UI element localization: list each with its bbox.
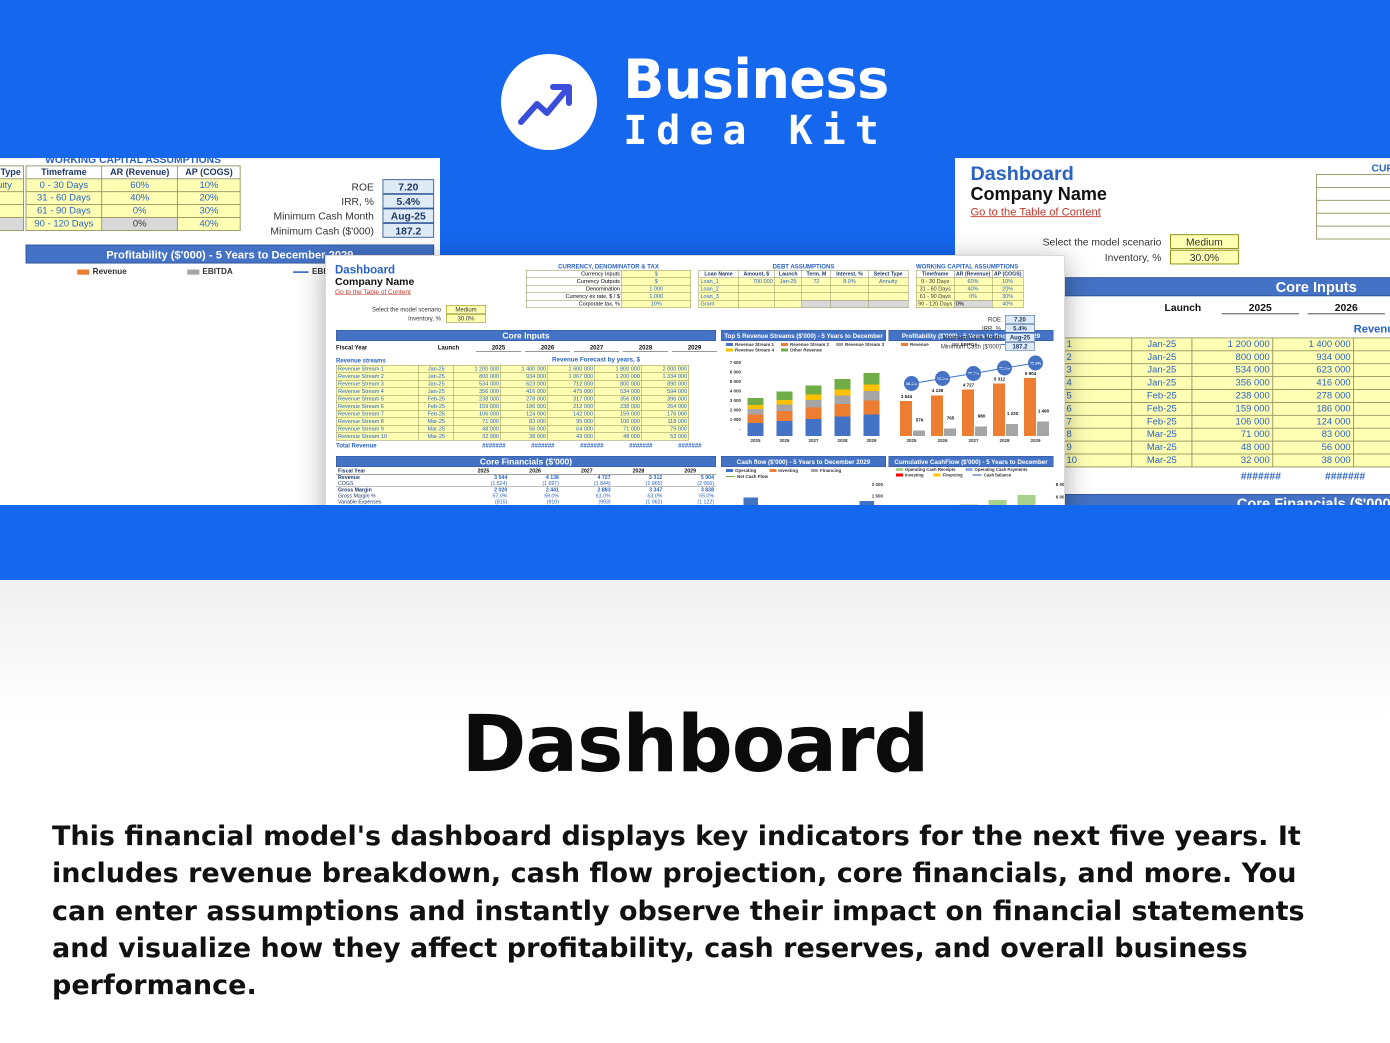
- profitability-plot: 3 54457616.3%4 13876518.5%4 72798020.7%5…: [896, 356, 1051, 436]
- label-ebitda-2026: 765: [943, 415, 958, 420]
- legend-revenue: Revenue: [77, 267, 127, 276]
- denomination-label: Denomination: [526, 285, 621, 293]
- prof-xlab-2027: 2027: [958, 438, 989, 443]
- table-row: 61 - 90 Days0%30%: [916, 293, 1023, 301]
- ci-year-2029: 2029: [672, 344, 717, 352]
- prof-xlab-2025: 2025: [896, 438, 927, 443]
- brand-logo: Business Idea Kit: [0, 46, 1390, 158]
- table-row: Grant: [0, 218, 24, 231]
- bar-revenue-stream-1-2028: [835, 417, 851, 436]
- table-row: 31 - 60 Days40%20%: [916, 285, 1023, 293]
- rs-xlab-2027: 2027: [799, 438, 828, 443]
- scenario-label-right: Select the model scenario: [981, 236, 1162, 248]
- table-row: Loan_1700 000Jan-25728.0%Annuity: [0, 179, 24, 192]
- core-financials-section-bar: Core Financials ($'000): [336, 456, 716, 467]
- table-row: Denomination1 000: [1317, 200, 1390, 213]
- min-cash-month-value: Aug-25: [383, 208, 435, 223]
- bubble-ebitda-pct-2029: 25.2%: [1028, 356, 1043, 371]
- bar-revenue-2026: [931, 395, 943, 436]
- currency-outputs-label: Currency Outputs: [526, 278, 621, 286]
- label-revenue-2028: 5 312: [992, 377, 1007, 382]
- table-row: 0 - 30 Days60%10%: [26, 179, 240, 192]
- legend-cf-net: Net Cash Flow: [726, 474, 768, 479]
- growth-arrow-icon: [501, 54, 597, 150]
- table-row: 31 - 60 Days40%20%: [26, 192, 240, 205]
- currency-block-title: CURRENCY, DENOMINATOR & TAX: [526, 263, 691, 270]
- table-row: Revenue Stream 3Jan-25534 000623 000712 …: [336, 380, 689, 388]
- revenue-forecast-table: Revenue Stream 1Jan-251 200 0001 400 000…: [336, 365, 689, 441]
- ci-year-2027: 2027: [574, 344, 619, 352]
- legend-ebitda: EBITDA: [187, 267, 233, 276]
- table-row: Loan_1700 000Jan-25728.0%Annuity: [699, 278, 909, 286]
- legend-ccf-payments: Operating Cash Payments: [966, 467, 1028, 472]
- ci-year-2028: 2028: [623, 344, 668, 352]
- roe-label: ROE: [916, 316, 1001, 323]
- table-header-row: Timeframe AR (Revenue) AP (COGS): [26, 166, 240, 179]
- table-row: Loan_3: [699, 293, 909, 301]
- table-row: Revenue Stream 6Feb-25159 000186 000212 …: [336, 403, 689, 411]
- table-row: 61 - 90 Days0%30%: [26, 205, 240, 218]
- bar-revenue-stream-1-2025: [748, 423, 764, 436]
- min-cash-value: 187.2: [383, 223, 435, 238]
- scenario-label: Select the model scenario: [336, 306, 441, 313]
- col-loan-name: Loan Name: [699, 270, 738, 278]
- bar-revenue-stream-3-2029: [864, 391, 880, 401]
- legend-cf-investing: Investing: [769, 468, 798, 473]
- label-revenue-2026: 4 138: [930, 388, 945, 393]
- roe-label: ROE: [245, 181, 374, 193]
- irr-value: 5.4%: [383, 194, 435, 209]
- debt-table: Loan NameAmount, $LaunchTerm, MInterest,…: [699, 270, 909, 308]
- bar-revenue-stream-4-2027: [806, 395, 822, 400]
- bar-revenue-2029: [1024, 378, 1036, 436]
- rs-ytick-7: -: [719, 427, 741, 432]
- table-row: Currency ex rate, $ / $1.000: [526, 293, 691, 301]
- prof-xlab-2026: 2026: [927, 438, 958, 443]
- table-row: 90 - 120 Days0%40%: [26, 218, 240, 231]
- currency-inputs-label: Currency Inputs: [526, 270, 621, 278]
- bar-revenue-stream-3-2028: [835, 395, 851, 404]
- launch-col-label: Launch: [431, 344, 466, 351]
- table-row: Revenue Stream 5Feb-25238 000278 000317 …: [336, 395, 689, 403]
- label-ebitda-2027: 980: [974, 413, 989, 418]
- bar-other-revenue-2025: [748, 398, 764, 405]
- year-2025-right: 2025: [1222, 301, 1299, 314]
- bar-revenue-stream-3-2025: [748, 409, 764, 415]
- legend-ccf-balance: Cash balance: [973, 473, 1011, 478]
- ccf-ytick-0: 8 000: [1045, 482, 1065, 487]
- bar-ebitda-2028: [1006, 424, 1018, 436]
- irr--label: IRR, %: [916, 325, 1001, 332]
- cashflow-section-bar: Cash flow ($'000) - 5 Years to December …: [721, 456, 886, 467]
- hero-bottom-strip: [0, 505, 1390, 580]
- total-revenue-value: #######: [1284, 470, 1365, 482]
- bar-revenue-2028: [993, 384, 1005, 436]
- dashboard-title-right: Dashboard: [970, 162, 1073, 185]
- currency-table: Currency Inputs$ Currency Outputs$ Denom…: [526, 270, 691, 308]
- ccf-ytick-1: 6 000: [1045, 495, 1065, 500]
- revenue-streams-plot: [741, 361, 886, 436]
- ci-year-2025: 2025: [476, 344, 521, 352]
- total-revenue-value: #######: [1200, 470, 1281, 482]
- roe-value: 7.20: [1005, 315, 1035, 324]
- bar-revenue-stream-2-2027: [806, 407, 822, 418]
- col-ap: AP (COGS): [178, 166, 240, 179]
- launch-label-right: Launch: [1153, 301, 1213, 313]
- bar-revenue-stream-3-2026: [777, 404, 793, 411]
- core-inputs-section-bar: Core Inputs: [336, 330, 716, 341]
- table-row: Currency Outputs$: [526, 278, 691, 286]
- bar-other-revenue-2028: [835, 379, 851, 389]
- col-type: Select Type: [0, 166, 24, 179]
- tax-label: Corporate tax, %: [526, 300, 621, 308]
- col-timeframe: Timeframe: [26, 166, 102, 179]
- rs-ytick-2: 5 000: [719, 379, 741, 384]
- table-row: Revenue Stream 9Mar-2548 00056 00064 000…: [336, 425, 689, 433]
- bar-revenue-2027: [962, 389, 974, 436]
- label-revenue-2029: 5 904: [1023, 371, 1038, 376]
- brand-name-secondary: Idea Kit: [623, 111, 889, 151]
- legend-ccf-financing: Financing: [934, 473, 963, 478]
- bar-other-revenue-2026: [777, 392, 793, 400]
- bar-ebitda-2029: [1037, 421, 1049, 436]
- table-of-content-link[interactable]: Go to the Table of Content: [335, 288, 411, 296]
- rs-ytick-0: 7 000: [719, 360, 741, 365]
- total-revenue-value: #######: [459, 442, 506, 449]
- table-header-row: Loan Name Amount, $ Launch Term, M Inter…: [0, 166, 24, 179]
- rs-ytick-3: 4 000: [719, 389, 741, 394]
- total-revenue-value: #######: [557, 442, 604, 449]
- bar-revenue-stream-2-2028: [835, 404, 851, 417]
- dashboard-title: Dashboard: [335, 263, 395, 277]
- bar-revenue-stream-4-2028: [835, 390, 851, 396]
- total-revenue-value: #######: [606, 442, 653, 449]
- bar-revenue-stream-1-2027: [806, 419, 822, 436]
- tax-value[interactable]: 10%: [622, 300, 691, 308]
- total-revenue-value: #######: [1369, 470, 1390, 482]
- currency-title-right: CURRENCY, DENOMINATOR & TAX: [1316, 162, 1390, 174]
- minimum-cash-month-label: Minimum Cash Month: [916, 334, 1001, 341]
- debt-assumptions-table: Loan Name Amount, $ Launch Term, M Inter…: [0, 165, 24, 230]
- total-revenue-value: #######: [655, 442, 702, 449]
- hero-banner: Business Idea Kit DEBT ASSUMPTIONS Loan …: [0, 0, 1390, 580]
- working-capital-grid: TimeframeAR (Revenue)AP (COGS)0 - 30 Day…: [916, 270, 1024, 308]
- table-header-row: TimeframeAR (Revenue)AP (COGS): [916, 270, 1023, 278]
- table-row: Loan_3: [0, 205, 24, 218]
- roe-value: 7.20: [383, 179, 435, 194]
- min-cash-month-label: Minimum Cash Month: [228, 210, 374, 222]
- minimum-cash-month-value: Aug-25: [1005, 333, 1035, 342]
- company-name-right: Company Name: [970, 184, 1106, 205]
- bar-other-revenue-2029: [864, 373, 880, 385]
- revenue-streams-label: Revenue streams: [336, 357, 416, 364]
- scenario-value-right[interactable]: Medium: [1170, 234, 1239, 249]
- bar-revenue-stream-1-2029: [864, 415, 880, 436]
- table-row: Revenue Stream 8Mar-2571 00083 00095 000…: [336, 418, 689, 426]
- bar-revenue-stream-3-2027: [806, 400, 822, 408]
- table-row: Loan_2: [0, 192, 24, 205]
- bar-revenue-2025: [900, 401, 912, 436]
- minimum-cash--value: 187.2: [1005, 342, 1035, 351]
- bubble-ebitda-pct-2025: 16.3%: [904, 376, 919, 391]
- col-select-type: Select Type: [868, 270, 908, 278]
- bubble-ebitda-pct-2026: 18.5%: [935, 371, 950, 386]
- col-ar: AR (Revenue): [102, 166, 178, 179]
- rs-ytick-4: 3 000: [719, 398, 741, 403]
- currency-inputs-value[interactable]: $: [622, 270, 691, 278]
- legend-other-rev: Other Revenue: [781, 348, 822, 353]
- irr-label: IRR, %: [245, 196, 374, 208]
- rs-xlab-2026: 2026: [770, 438, 799, 443]
- working-capital-title: WORKING CAPITAL ASSUMPTIONS: [26, 158, 241, 165]
- col-interest-: Interest, %: [831, 270, 868, 278]
- table-row: Revenue Stream 4Jan-25356 000416 000475 …: [336, 388, 689, 396]
- legend-rs4: Revenue Stream 4: [726, 348, 774, 353]
- revenue-forecast-title: Revenue Forecast by years, $: [476, 356, 716, 363]
- exrate-label: Currency ex rate, $ / $: [526, 293, 621, 301]
- table-row: Currency Inputs$: [526, 270, 691, 278]
- denomination-value[interactable]: 1 000: [622, 285, 691, 293]
- bar-revenue-stream-2-2029: [864, 400, 880, 414]
- toc-link-right[interactable]: Go to the Table of Content: [970, 205, 1100, 218]
- brand-name-primary: Business: [623, 53, 889, 107]
- bar-revenue-stream-4-2029: [864, 384, 880, 390]
- total-revenue-label: Total Revenue: [336, 442, 411, 449]
- legend-ccf-receipts: Operating Cash Receipts: [896, 467, 956, 472]
- debt-block-title: DEBT ASSUMPTIONS: [699, 263, 909, 270]
- cumulative-cashflow-section-bar: Cumulative CashFlow ($'000) - 5 Years to…: [889, 456, 1054, 467]
- min-cash-label: Minimum Cash ($'000): [228, 225, 374, 237]
- minimum-cash--label: Minimum Cash ($'000): [916, 343, 1001, 350]
- bar-ebitda-2026: [944, 428, 956, 436]
- ci-year-2026: 2026: [525, 344, 570, 352]
- year-2026-right: 2026: [1308, 301, 1385, 314]
- wc-block-title: WORKING CAPITAL ASSUMPTIONS: [916, 263, 1021, 270]
- revenue-streams-bars: [0, 288, 8, 430]
- table-row: 90 - 120 Days0%40%: [916, 300, 1023, 308]
- bubble-ebitda-pct-2027: 20.7%: [966, 366, 981, 381]
- label-ebitda-2025: 576: [912, 417, 927, 422]
- fiscal-year-label: Fiscal Year: [336, 344, 406, 351]
- legend-rs3: Revenue Stream 3: [836, 342, 884, 347]
- legend-rs1: Revenue Stream 1: [726, 342, 774, 347]
- total-revenue-value: #######: [508, 442, 555, 449]
- label-ebitda-2028: 1 220: [1005, 411, 1020, 416]
- irr--value: 5.4%: [1005, 324, 1035, 333]
- bar-revenue-stream-4-2025: [748, 405, 764, 409]
- exrate-value[interactable]: 1.000: [622, 293, 691, 301]
- legend-rs2: Revenue Stream 2: [781, 342, 829, 347]
- legend-cf-financing: Financing: [811, 468, 841, 473]
- currency-outputs-value[interactable]: $: [622, 278, 691, 286]
- revenue-streams-section-bar: Top 5 Revenue Streams ($'000) - 5 Years …: [721, 330, 886, 341]
- table-row: Loan_2: [699, 285, 909, 293]
- page-description: This financial model's dashboard display…: [52, 818, 1342, 1004]
- bar-revenue-stream-1-2026: [777, 421, 793, 436]
- bar-ebitda-2027: [975, 426, 987, 436]
- currency-table-right: Currency Inputs$ Currency Outputs$ Denom…: [1316, 174, 1390, 239]
- table-row: Revenue Stream 1Jan-251 200 0001 400 000…: [336, 365, 689, 373]
- legend-ccf-investing: Investing: [896, 473, 924, 478]
- rs-xlab-2029: 2029: [857, 438, 886, 443]
- rs-ytick-1: 6 000: [719, 370, 741, 375]
- label-revenue-2027: 4 727: [961, 382, 976, 387]
- working-capital-table: Timeframe AR (Revenue) AP (COGS) 0 - 30 …: [26, 165, 241, 230]
- table-row: Grant: [699, 300, 909, 308]
- legend-cf-operating: Operating: [726, 468, 756, 473]
- prof-xlab-2029: 2029: [1020, 438, 1051, 443]
- table-header-row: Loan NameAmount, $LaunchTerm, MInterest,…: [699, 270, 909, 278]
- scenario-select[interactable]: Medium: [446, 305, 486, 314]
- label-revenue-2025: 3 544: [899, 394, 914, 399]
- table-row: Revenue Stream 10Mar-2532 00038 00043 00…: [336, 433, 689, 441]
- table-row: Corporate tax, %10%: [1317, 226, 1390, 239]
- table-row: Currency ex rate, $ / $1.000: [1317, 213, 1390, 226]
- prof-xlab-2028: 2028: [989, 438, 1020, 443]
- forecast-title-right: Revenue Forecast by years, $: [1222, 322, 1390, 335]
- table-row: Revenue Stream 7Feb-25106 000124 000142 …: [336, 410, 689, 418]
- rs-xlab-2028: 2028: [828, 438, 857, 443]
- col-amount-: Amount, $: [738, 270, 774, 278]
- page-title: Dashboard: [0, 700, 1390, 790]
- inventory-label: Inventory, %: [336, 315, 441, 322]
- col-term-m: Term, M: [802, 270, 831, 278]
- col-launch: Launch: [774, 270, 802, 278]
- table-row: 0 - 30 Days60%10%: [916, 278, 1023, 286]
- rs-ytick-6: 1 000: [719, 417, 741, 422]
- table-row: Currency Outputs$: [1317, 187, 1390, 200]
- company-name: Company Name: [335, 276, 414, 288]
- inventory-value-right[interactable]: 30.0%: [1170, 250, 1239, 265]
- table-row: Corporate tax, %10%: [526, 300, 691, 308]
- rs-xlab-2025: 2025: [741, 438, 770, 443]
- bar-ebitda-2025: [913, 430, 925, 436]
- bar-revenue-stream-2-2025: [748, 415, 764, 424]
- bar-revenue-stream-4-2026: [777, 400, 793, 404]
- table-row: Currency Inputs$: [1317, 175, 1390, 188]
- rs-ytick-5: 2 000: [719, 408, 741, 413]
- bubble-ebitda-pct-2028: 23.0%: [997, 361, 1012, 376]
- label-ebitda-2029: 1 490: [1036, 408, 1051, 413]
- bar-revenue-stream-2-2026: [777, 411, 793, 421]
- bar-other-revenue-2027: [806, 385, 822, 394]
- table-row: Denomination1 000: [526, 285, 691, 293]
- inventory-input[interactable]: 30.0%: [446, 314, 486, 323]
- table-row: Revenue Stream 2Jan-25800 000934 0001 06…: [336, 373, 689, 381]
